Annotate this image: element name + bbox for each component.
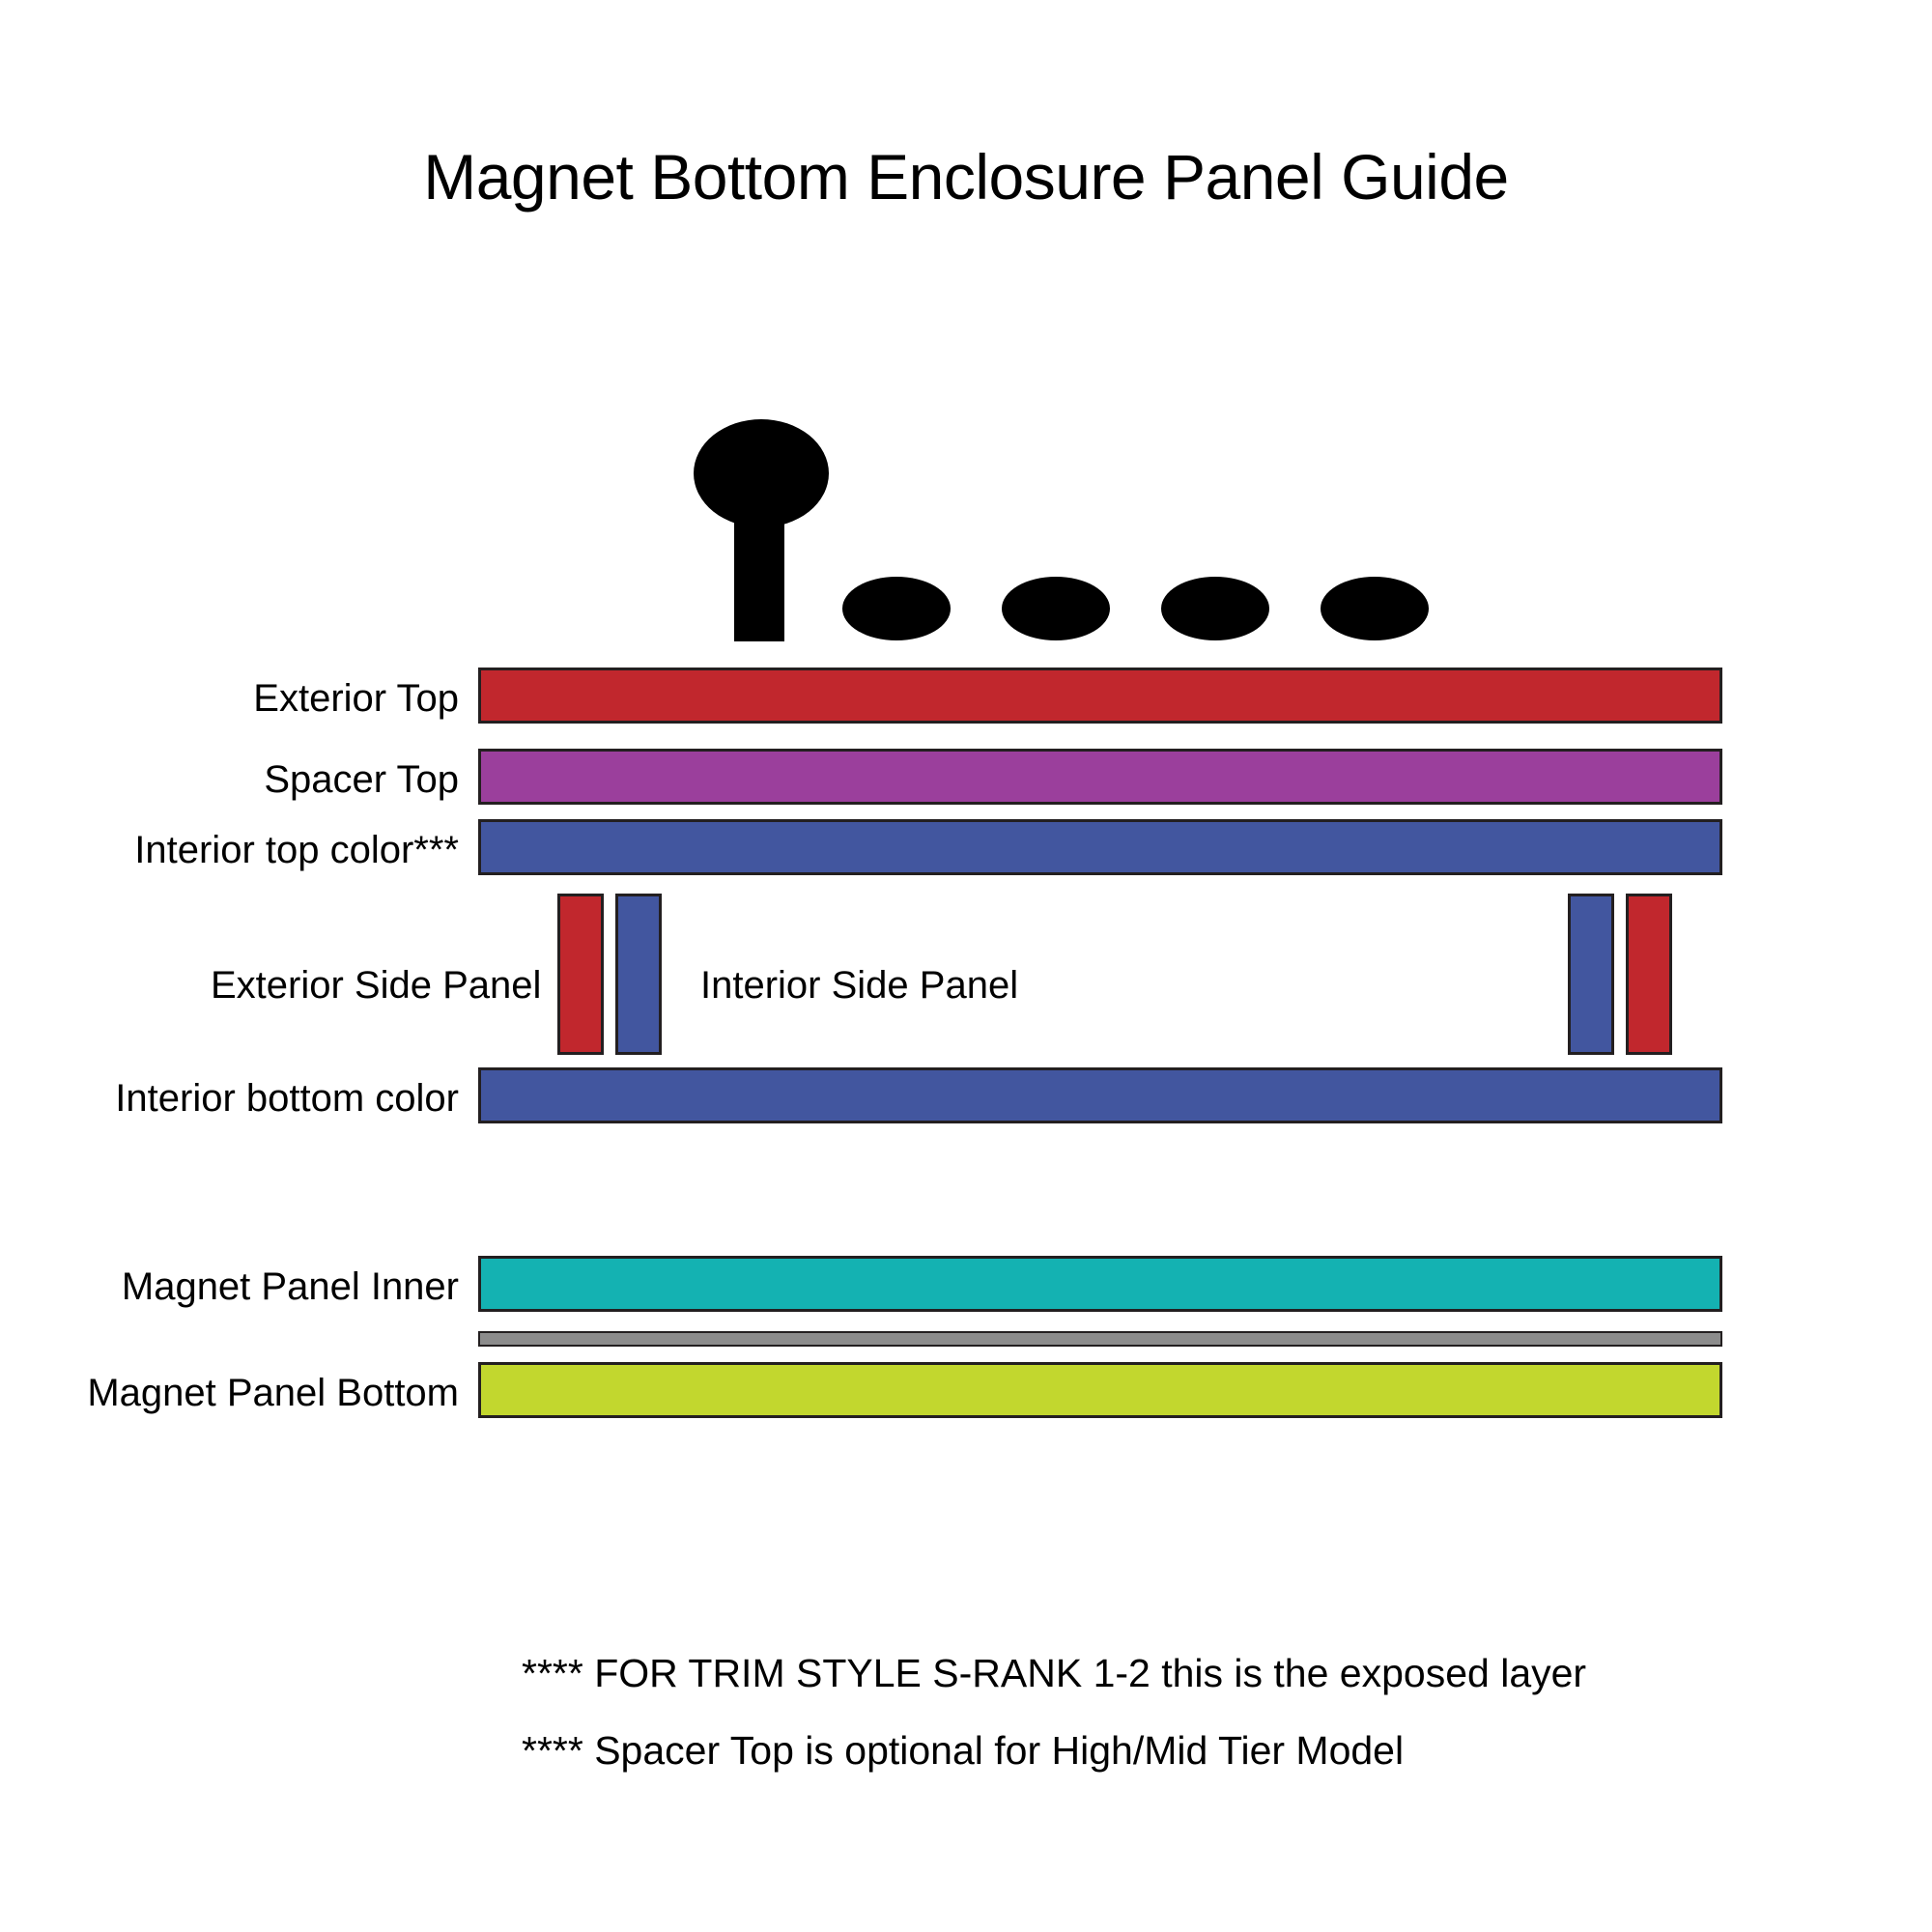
page-title: Magnet Bottom Enclosure Panel Guide	[0, 145, 1932, 209]
label-magnet-inner: Magnet Panel Inner	[122, 1267, 459, 1306]
side-panel-right-interior	[1568, 894, 1614, 1055]
layer-bar-spacer-top	[478, 749, 1722, 805]
layer-bar-interior-bottom	[478, 1067, 1722, 1123]
layer-bar-exterior-top	[478, 668, 1722, 724]
label-exterior-side-panel: Exterior Side Panel	[211, 966, 541, 1005]
joystick-shaft-icon	[734, 512, 784, 641]
arcade-button-3-icon	[1161, 577, 1269, 640]
label-magnet-bottom: Magnet Panel Bottom	[87, 1374, 459, 1412]
side-panel-right-exterior	[1626, 894, 1672, 1055]
footnote-trim-style: **** FOR TRIM STYLE S-RANK 1-2 this is t…	[522, 1654, 1586, 1693]
layer-bar-magnet-bottom	[478, 1362, 1722, 1418]
side-panel-left-exterior	[557, 894, 604, 1055]
label-interior-bottom: Interior bottom color	[115, 1079, 459, 1118]
arcade-button-1-icon	[842, 577, 951, 640]
arcade-button-2-icon	[1002, 577, 1110, 640]
layer-bar-magnet-middle	[478, 1331, 1722, 1347]
side-panel-left-interior	[615, 894, 662, 1055]
diagram-canvas: Magnet Bottom Enclosure Panel Guide Exte…	[0, 0, 1932, 1932]
label-interior-side-panel: Interior Side Panel	[700, 966, 1018, 1005]
layer-bar-interior-top	[478, 819, 1722, 875]
label-exterior-top: Exterior Top	[253, 679, 459, 718]
label-interior-top: Interior top color***	[134, 831, 459, 869]
layer-bar-magnet-inner	[478, 1256, 1722, 1312]
arcade-button-4-icon	[1321, 577, 1429, 640]
footnote-spacer-top: **** Spacer Top is optional for High/Mid…	[522, 1731, 1404, 1771]
label-spacer-top: Spacer Top	[264, 760, 459, 799]
